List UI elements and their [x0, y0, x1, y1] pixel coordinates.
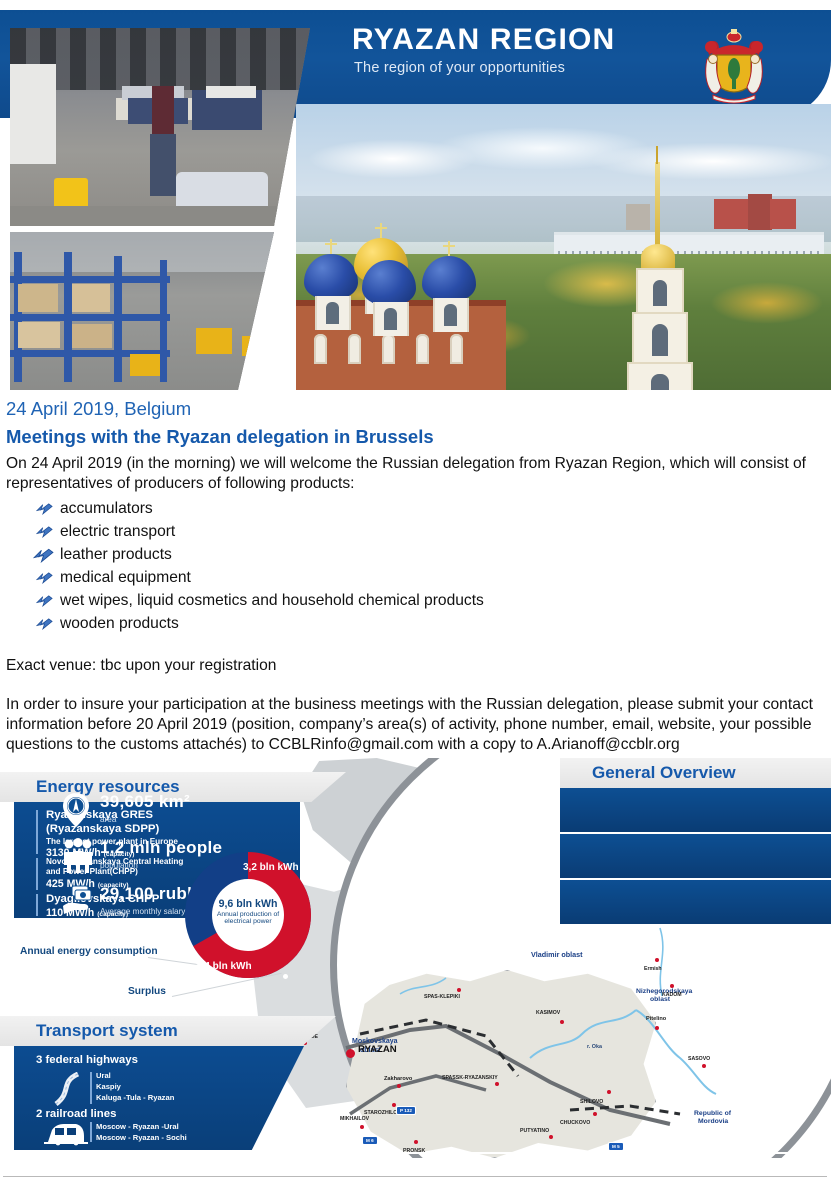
people-icon	[62, 838, 94, 874]
list-item: wet wipes, liquid cosmetics and househol…	[6, 590, 706, 613]
footer-divider	[3, 1176, 827, 1177]
article-headline: Meetings with the Ryazan delegation in B…	[6, 426, 434, 448]
highway-list: Ural Kaspiy Kaluga -Tula - Ryazan	[96, 1071, 174, 1103]
product-label: electric transport	[60, 523, 175, 540]
donut-legend-surplus: Surplus	[128, 986, 166, 997]
list-item: leather products	[6, 544, 706, 567]
list-item: wooden products	[6, 613, 706, 636]
product-label: accumulators	[60, 500, 153, 517]
city-label: Ermish	[644, 966, 662, 972]
overview-row-area	[560, 788, 831, 834]
coat-of-arms-icon	[697, 25, 771, 107]
capital-dot	[346, 1049, 355, 1058]
city-label: KASIMOV	[536, 1010, 560, 1016]
donut-center-label: 9,6 bln kWh Annual production of electri…	[203, 899, 293, 926]
highways-title: 3 federal highways	[36, 1054, 138, 1066]
blue-arrow-bullet-icon	[36, 594, 53, 607]
list-item: accumulators	[6, 498, 706, 521]
label-river-oka: r. Oka	[587, 1044, 602, 1050]
event-date-location: 24 April 2019, Belgium	[6, 398, 191, 420]
page-subtitle: The region of your opportunities	[354, 60, 694, 76]
blue-arrow-bullet-icon	[36, 502, 53, 515]
overview-row-population	[560, 834, 831, 880]
leader-dot	[196, 960, 201, 965]
transport-panel-title: Transport system	[36, 1021, 178, 1041]
city-label-ryazan: RYAZAN	[358, 1044, 397, 1055]
city-label: SHILOVO	[580, 1099, 603, 1105]
blue-dome-icon	[362, 260, 416, 316]
city-label: SPASSK-RYAZANSKIY	[442, 1075, 498, 1081]
location-pin-icon	[62, 792, 90, 828]
warehouse-photo	[10, 232, 310, 390]
overview-caption-area: area	[100, 815, 116, 824]
hero-banner: RYAZAN REGION The region of your opportu…	[0, 0, 831, 390]
transport-panel-header: Transport system	[0, 1016, 336, 1046]
city-label: SASOVO	[688, 1056, 710, 1062]
road-shield-p132: P 132	[396, 1106, 416, 1115]
factory-photo	[10, 28, 310, 226]
city-label: Pitelino	[646, 1016, 666, 1022]
blue-dome-icon	[304, 254, 358, 310]
blue-arrow-bullet-icon	[36, 617, 53, 630]
infographic: Moscow Ryazan MOSCOW RYAZAN 183 km Mosko…	[0, 758, 831, 1158]
city-label: MIKHAILOV	[340, 1116, 369, 1122]
general-overview-panel-header: General Overview	[560, 758, 831, 788]
donut-label-consumption-value: 6,4 bln kWh	[196, 961, 252, 972]
label-republic-of-mordovia: Republic of Mordovia	[694, 1110, 731, 1127]
registration-instructions: In order to insure your participation at…	[6, 695, 830, 755]
blue-dome-icon	[422, 256, 476, 312]
section-spacer	[0, 1152, 831, 1154]
blue-arrow-bullet-icon	[33, 547, 54, 563]
article-body: 24 April 2019, Belgium Meetings with the…	[0, 390, 831, 758]
product-label: wet wipes, liquid cosmetics and househol…	[60, 592, 484, 609]
leader-dot	[283, 974, 288, 979]
city-label: PUTYATINO	[520, 1128, 549, 1134]
overview-value-area: 39,605 km²	[100, 792, 190, 812]
blue-arrow-bullet-icon	[36, 571, 53, 584]
product-label: medical equipment	[60, 569, 191, 586]
product-list: accumulators electric transport leather …	[6, 498, 706, 636]
donut-label-surplus-value: 3,2 bln kWh	[243, 862, 299, 873]
kremlin-photo	[296, 104, 831, 390]
list-item: medical equipment	[6, 567, 706, 590]
highway-icon	[44, 1072, 84, 1108]
product-label: wooden products	[60, 615, 179, 632]
road-shield-m6: M 6	[362, 1136, 378, 1145]
money-hand-icon	[62, 884, 96, 918]
road-shield-m5: M 5	[608, 1142, 624, 1151]
rail-title: 2 railroad lines	[36, 1108, 116, 1120]
overview-row-salary	[560, 880, 831, 926]
article-intro: On 24 April 2019 (in the morning) we wil…	[6, 454, 828, 494]
donut-legend-consumption: Annual energy consumption	[20, 946, 158, 957]
general-overview-title: General Overview	[592, 763, 736, 783]
page-title: RYAZAN REGION	[352, 24, 682, 56]
city-label: KADOM	[662, 992, 682, 998]
city-label: SPAS-KLEPIKI	[424, 994, 460, 1000]
train-icon	[42, 1122, 88, 1146]
rail-list: Moscow - Ryazan -Ural Moscow - Ryazan - …	[96, 1122, 187, 1144]
overview-caption-population: population	[100, 861, 138, 870]
cloud-layer	[296, 114, 831, 200]
product-label: leather products	[60, 546, 172, 563]
venue-note: Exact venue: tbc upon your registration	[6, 657, 276, 675]
bell-tower	[622, 162, 694, 390]
city-label: Zakharovo	[384, 1076, 412, 1082]
city-label: CHUCKOVO	[560, 1120, 590, 1126]
label-vladimir-oblast: Vladimir oblast	[531, 950, 583, 959]
blue-arrow-bullet-icon	[36, 525, 53, 538]
list-item: electric transport	[6, 521, 706, 544]
